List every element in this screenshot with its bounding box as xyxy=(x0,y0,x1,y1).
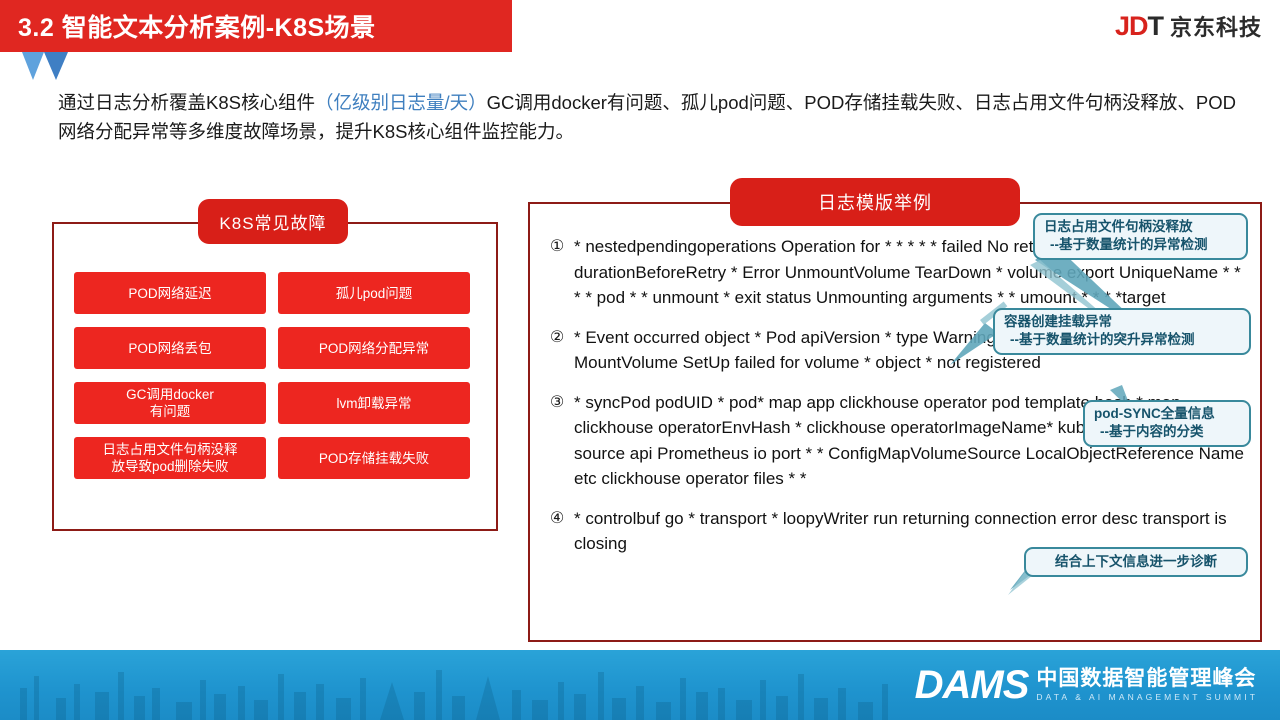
callout-line1: 日志占用文件句柄没释放 xyxy=(1044,219,1193,234)
w-decoration-icon xyxy=(22,52,68,82)
callout-log-filehandle: 日志占用文件句柄没释放 --基于数量统计的异常检测 xyxy=(1033,213,1248,260)
list-item-number: ③ xyxy=(540,390,574,416)
logo-mark-t: T xyxy=(1147,11,1163,41)
callout-line1: 容器创建挂载异常 xyxy=(1004,314,1112,329)
fault-box[interactable]: POD网络延迟 xyxy=(74,272,266,314)
fault-box[interactable]: GC调用docker有问题 xyxy=(74,382,266,424)
intro-part1: 通过日志分析覆盖K8S核心组件 xyxy=(58,92,315,113)
callout-pod-sync: pod-SYNC全量信息 --基于内容的分类 xyxy=(1083,400,1251,447)
fault-box[interactable]: lvm卸载异常 xyxy=(278,382,470,424)
dams-title-en: DATA & AI MANAGEMENT SUMMIT xyxy=(1036,691,1258,703)
callout-line2: --基于内容的分类 xyxy=(1094,423,1240,441)
list-item-number: ② xyxy=(540,325,574,351)
callout-container-mount: 容器创建挂载异常 --基于数量统计的突升异常检测 xyxy=(993,308,1251,355)
logo-name: 京东科技 xyxy=(1170,10,1262,42)
dams-logo: DAMS 中国数据智能管理峰会 DATA & AI MANAGEMENT SUM… xyxy=(915,656,1258,714)
page-title: 3.2 智能文本分析案例-K8S场景 xyxy=(0,8,376,44)
dams-subtitle-group: 中国数据智能管理峰会 DATA & AI MANAGEMENT SUMMIT xyxy=(1036,667,1258,703)
logo-mark: JDT xyxy=(1115,11,1163,42)
intro-paragraph: 通过日志分析覆盖K8S核心组件（亿级别日志量/天）GC调用docker有问题、孤… xyxy=(58,88,1248,146)
callout-line1: pod-SYNC全量信息 xyxy=(1094,406,1215,421)
fault-box[interactable]: POD网络丢包 xyxy=(74,327,266,369)
city-skyline-icon xyxy=(0,658,900,720)
callout-context-diagnosis: 结合上下文信息进一步诊断 xyxy=(1024,547,1248,577)
fault-box[interactable]: 孤儿pod问题 xyxy=(278,272,470,314)
list-item-number: ① xyxy=(540,234,574,260)
fault-box[interactable]: POD网络分配异常 xyxy=(278,327,470,369)
list-item-number: ④ xyxy=(540,506,574,532)
dams-wordmark: DAMS xyxy=(915,665,1029,705)
fault-box[interactable]: POD存储挂载失败 xyxy=(278,437,470,479)
fault-box-grid: POD网络延迟 孤儿pod问题 POD网络丢包 POD网络分配异常 GC调用do… xyxy=(74,272,470,479)
callout-line1: 结合上下文信息进一步诊断 xyxy=(1055,554,1217,569)
callout-line2: --基于数量统计的突升异常检测 xyxy=(1004,331,1240,349)
logo-mark-jd: JD xyxy=(1115,11,1148,41)
fault-box[interactable]: 日志占用文件句柄没释放导致pod删除失败 xyxy=(74,437,266,479)
callout-line2: --基于数量统计的异常检测 xyxy=(1044,236,1237,254)
k8s-faults-badge: K8S常见故障 xyxy=(198,199,348,244)
jdt-logo: JDT 京东科技 xyxy=(1115,10,1262,42)
slide-title-bar: 3.2 智能文本分析案例-K8S场景 xyxy=(0,0,512,52)
bottom-banner: DAMS 中国数据智能管理峰会 DATA & AI MANAGEMENT SUM… xyxy=(0,650,1280,720)
dams-title-cn: 中国数据智能管理峰会 xyxy=(1036,667,1258,691)
intro-highlight: （亿级别日志量/天） xyxy=(315,92,487,113)
